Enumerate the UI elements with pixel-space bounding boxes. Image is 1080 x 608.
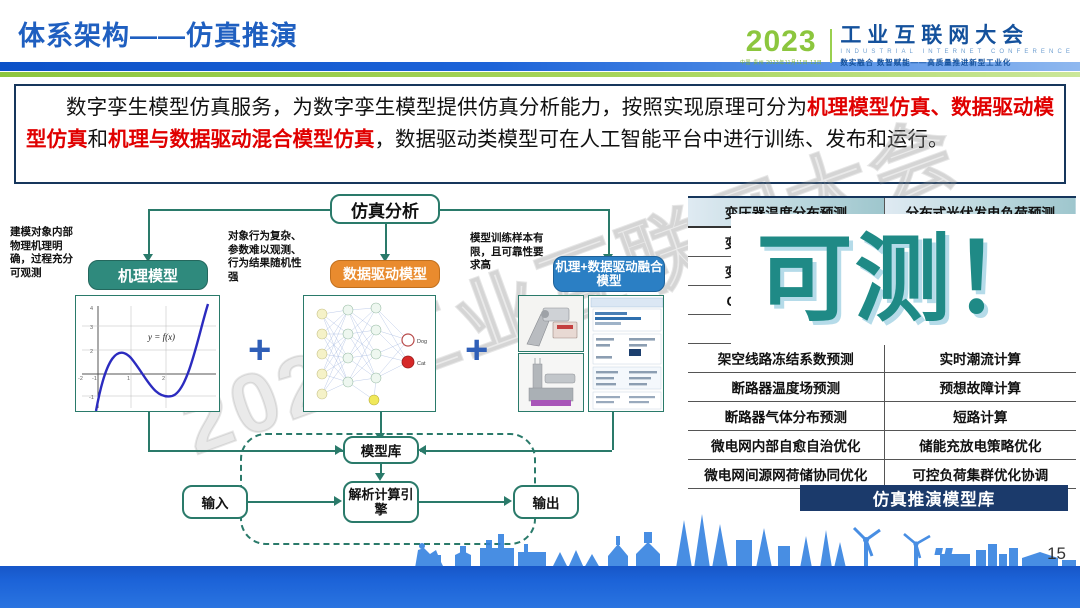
table-row: 架空线路冻结系数预测实时潮流计算 <box>688 344 1076 373</box>
table-cell-model-b: 储能充放电策略优化 <box>884 431 1076 460</box>
table-row: 断路器气体分布预测短路计算 <box>688 402 1076 431</box>
software-screenshot-svg <box>589 296 664 412</box>
city-skyline-graphic <box>0 510 1080 570</box>
table-cell-model-b: 短路计算 <box>884 402 1076 431</box>
spine-drop-right <box>608 209 610 259</box>
thumbnail-software-screenshot <box>588 295 664 412</box>
header-green-rule <box>0 72 1080 77</box>
spine-right <box>440 209 608 211</box>
summary-paragraph: 数字孪生模型仿真服务，为数字孪生模型提供仿真分析能力，按照实现原理可分为机理模型… <box>26 92 1054 156</box>
arrow-lib-to-engine <box>375 473 385 481</box>
summary-text-box: 数字孪生模型仿真服务，为数字孪生模型提供仿真分析能力，按照实现原理可分为机理模型… <box>14 84 1066 184</box>
spine-drop-left <box>148 209 150 259</box>
node-model-library[interactable]: 模型库 <box>343 436 419 464</box>
svg-text:Cat: Cat <box>417 361 426 367</box>
svg-text:4: 4 <box>90 306 93 312</box>
table-caption: 仿真推演模型库 <box>800 485 1068 511</box>
diagram-root-node[interactable]: 仿真分析 <box>330 194 440 224</box>
svg-text:3: 3 <box>90 325 93 331</box>
equipment-photo-bottom-svg <box>519 354 584 412</box>
measurable-callout: 可测！ <box>731 214 1076 345</box>
logo-divider <box>830 29 832 63</box>
logo-year-subtitle: 中国·贵州 2023年11月11日-13日 <box>740 59 822 66</box>
svg-text:-2: -2 <box>78 376 83 382</box>
svg-text:2: 2 <box>90 349 93 355</box>
logo-year: 2023 <box>746 27 817 57</box>
function-plot-label: y = f(x) <box>147 332 175 342</box>
logo-chinese-name: 工业互联网大会 <box>840 25 1029 46</box>
svg-text:Dog: Dog <box>417 339 427 345</box>
table-cell-model-b: 预想故障计算 <box>884 373 1076 402</box>
thumbnail-equipment-photo-bottom <box>518 353 584 412</box>
conn-input-to-engine <box>248 501 335 503</box>
note-mechanism: 建模对象内部物理机理明确，过程充分可观测 <box>10 226 82 280</box>
svg-text:-1: -1 <box>92 376 97 382</box>
measurable-callout-text: 可测！ <box>757 232 1051 328</box>
plus-icon-1: + <box>248 330 271 370</box>
table-cell-model-a: 架空线路冻结系数预测 <box>688 344 884 373</box>
page-title: 体系架构——仿真推演 <box>18 14 298 53</box>
thumbnail-neural-network: Dog Cat <box>303 295 436 412</box>
arrow-engine-to-output <box>504 496 512 506</box>
svg-text:1: 1 <box>127 376 130 382</box>
table-cell-model-a: 微电网内部自愈自治优化 <box>688 431 884 460</box>
summary-segment-2: 和 <box>88 129 109 151</box>
table-row: 断路器温度场预测预想故障计算 <box>688 373 1076 402</box>
thumbnail-equipment-photo-top <box>518 295 584 352</box>
spine-left <box>148 209 330 211</box>
table-cell-model-a: 断路器温度场预测 <box>688 373 884 402</box>
node-hybrid-model[interactable]: 机理+数据驱动融合模型 <box>553 256 665 292</box>
equipment-photo-top-svg <box>519 296 584 352</box>
logo-tagline: 数实融合 数智赋能——高质量推进新型工业化 <box>840 57 1011 68</box>
function-plot-svg: y = f(x) -2-1 12 43 2-1 <box>76 296 220 412</box>
table-cell-model-b: 实时潮流计算 <box>884 344 1076 373</box>
summary-highlight-2: 机理与数据驱动混合模型仿真 <box>108 129 375 151</box>
node-data-driven-model[interactable]: 数据驱动模型 <box>330 260 440 288</box>
summary-segment-3: ，数据驱动类模型可在人工智能平台中进行训练、发布和运行。 <box>375 129 949 151</box>
note-datadriven: 对象行为复杂、参数难以观测、行为结果随机性强 <box>228 230 308 284</box>
node-mechanism-model[interactable]: 机理模型 <box>88 260 208 290</box>
arrow-input-to-engine <box>334 496 342 506</box>
plus-icon-2: + <box>465 330 488 370</box>
svg-text:2: 2 <box>162 376 165 382</box>
neural-network-svg: Dog Cat <box>304 296 436 412</box>
footer-band <box>0 566 1080 608</box>
architecture-diagram: 仿真分析 建模对象内部物理机理明确，过程充分可观测 对象行为复杂、参数难以观测、… <box>0 190 690 540</box>
table-row: 微电网内部自愈自治优化储能充放电策略优化 <box>688 431 1076 460</box>
page-number: 15 <box>1047 544 1066 564</box>
conn-engine-to-output <box>419 501 505 503</box>
conference-logo: 2023 中国·贵州 2023年11月11日-13日 工业互联网大会 INDUS… <box>740 24 1074 68</box>
conn-mechanism-down <box>148 412 150 450</box>
thumbnail-function-plot: y = f(x) -2-1 12 43 2-1 <box>75 295 220 412</box>
note-hybrid: 模型训练样本有限，且可靠性要求高 <box>470 232 548 273</box>
slide-canvas: 体系架构——仿真推演 2023 中国·贵州 2023年11月11日-13日 工业… <box>0 0 1080 608</box>
logo-english-name: INDUSTRIAL INTERNET CONFERENCE <box>840 49 1074 55</box>
summary-segment-1: 数字孪生模型仿真服务，为数字孪生模型提供仿真分析能力，按照实现原理可分为 <box>66 97 807 119</box>
table-cell-model-a: 断路器气体分布预测 <box>688 402 884 431</box>
svg-text:-1: -1 <box>89 395 94 401</box>
conn-hybrid-down <box>612 412 614 450</box>
